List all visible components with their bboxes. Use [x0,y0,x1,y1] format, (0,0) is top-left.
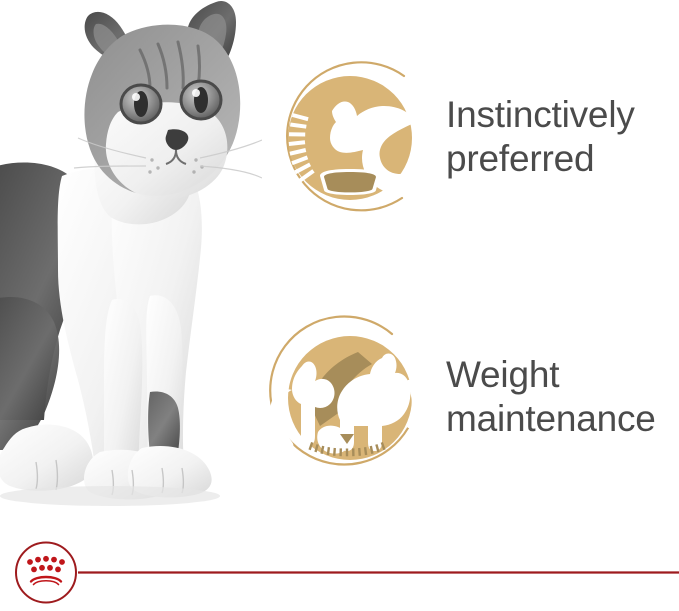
brand-footer [0,538,679,611]
benefit-row-weight-maintenance: Weight maintenance [258,308,656,486]
benefit-label-1: Instinctively preferred [446,93,635,180]
benefit-label-1-line2: preferred [446,137,635,181]
product-feature-panel: Instinctively preferred [0,0,679,611]
cat-weight-scale-icon [258,308,436,486]
cat-head-and-food-bowl-icon [258,48,436,226]
benefit-label-2-line2: maintenance [446,397,656,441]
benefit-label-2: Weight maintenance [446,353,656,440]
benefit-label-2-line1: Weight [446,353,656,397]
kitten-photo [0,0,262,515]
benefit-row-instinctively-preferred: Instinctively preferred [258,48,635,226]
benefit-label-1-line1: Instinctively [446,93,635,137]
